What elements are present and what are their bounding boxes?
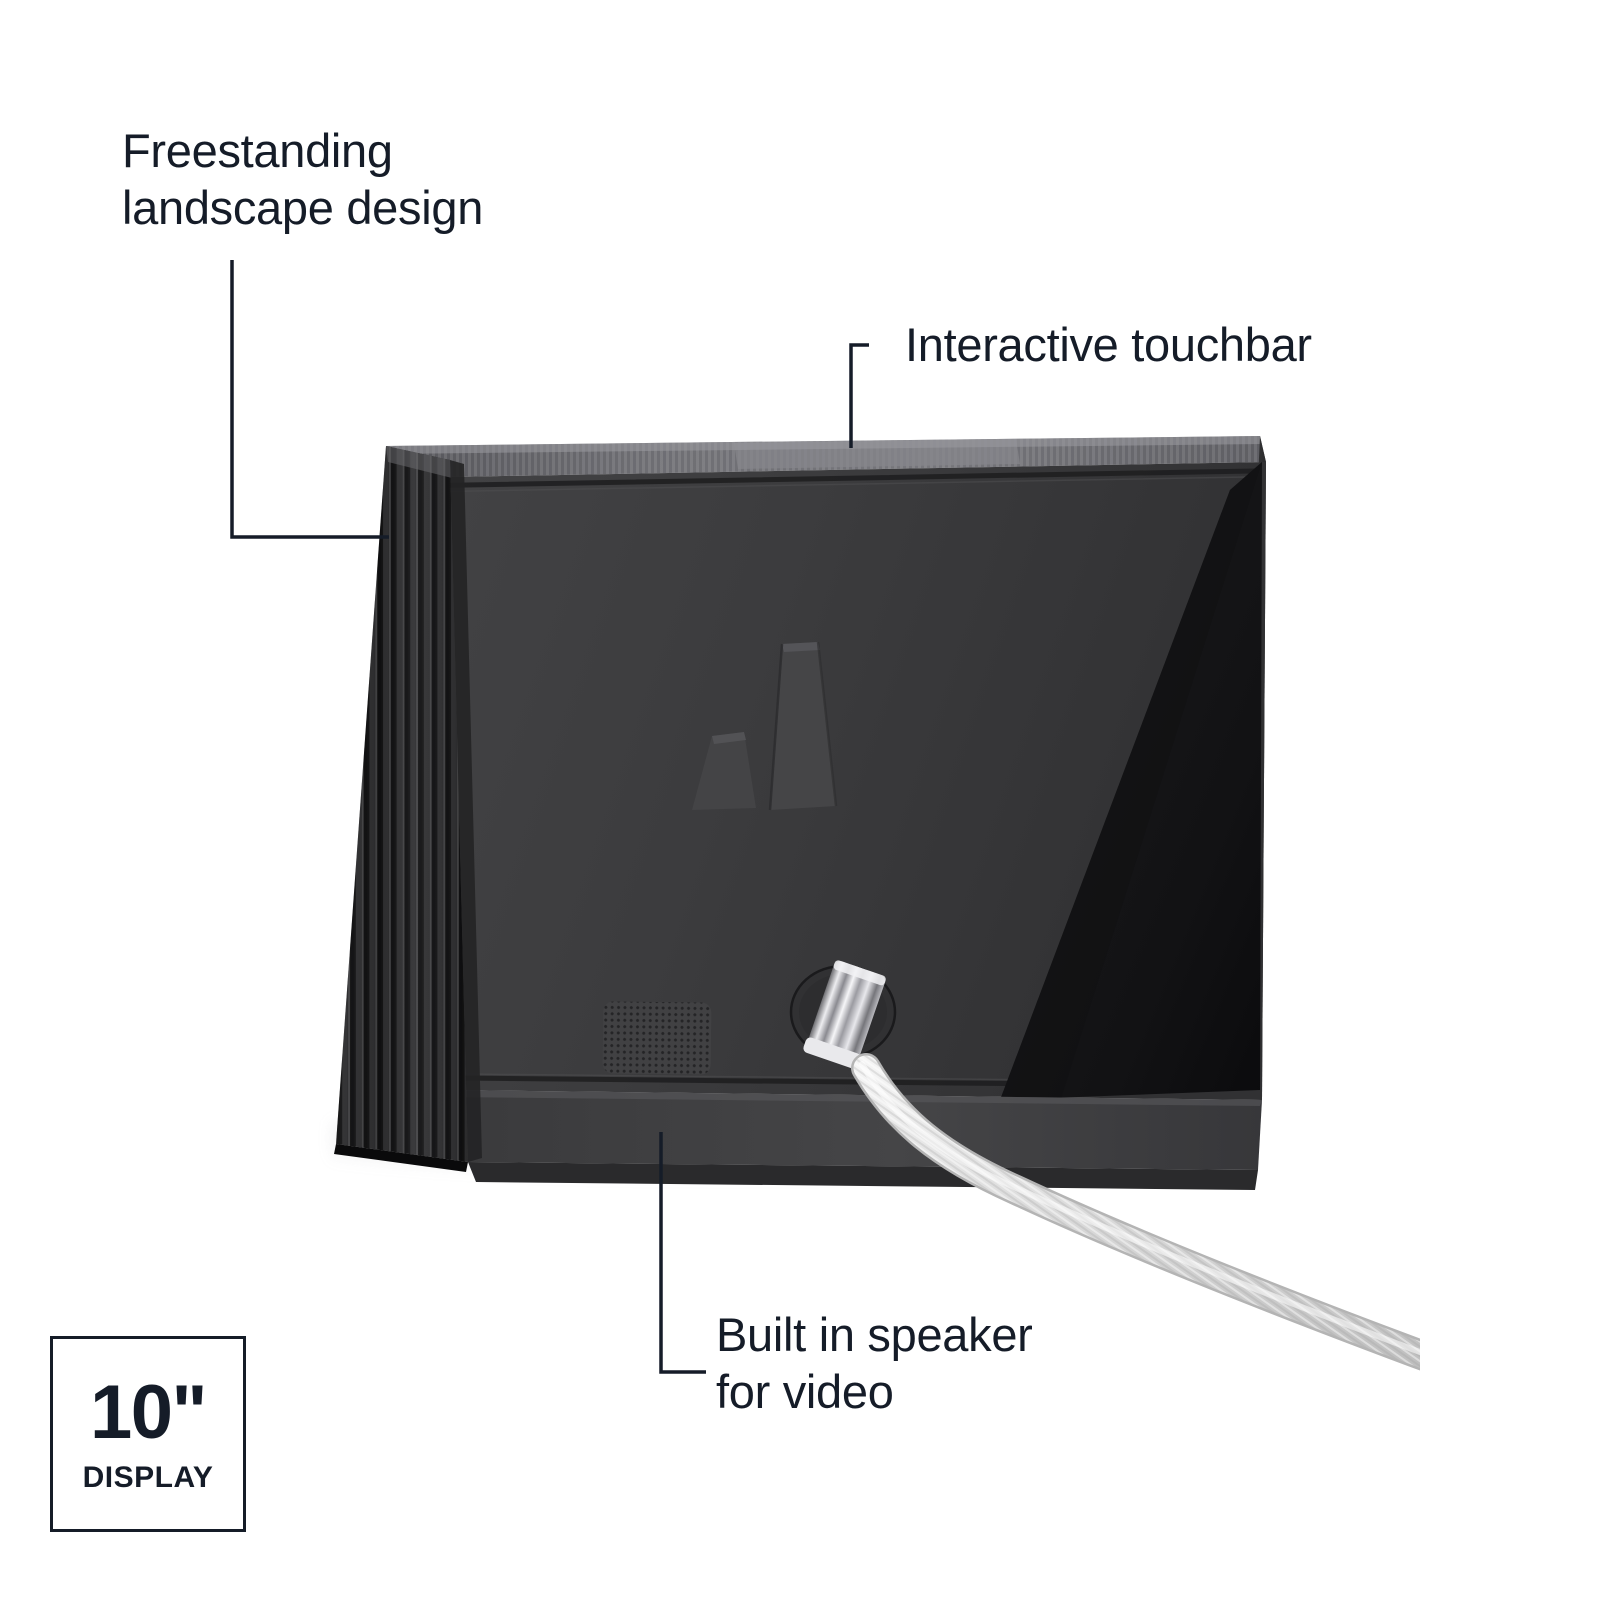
speaker-grille: [603, 1001, 712, 1074]
callout-label-freestanding: Freestanding landscape design: [122, 122, 483, 237]
badge-size-value: 10": [90, 1375, 206, 1451]
display-size-badge: 10" DISPLAY: [50, 1336, 246, 1532]
callout-label-speaker: Built in speaker for video: [716, 1306, 1033, 1421]
callout-label-touchbar: Interactive touchbar: [905, 316, 1312, 373]
fluted-side-panel: [334, 446, 468, 1172]
badge-caption: DISPLAY: [83, 1463, 214, 1493]
product-image: [300, 400, 1420, 1400]
product-infographic: Freestanding landscape design Interactiv…: [0, 0, 1600, 1600]
